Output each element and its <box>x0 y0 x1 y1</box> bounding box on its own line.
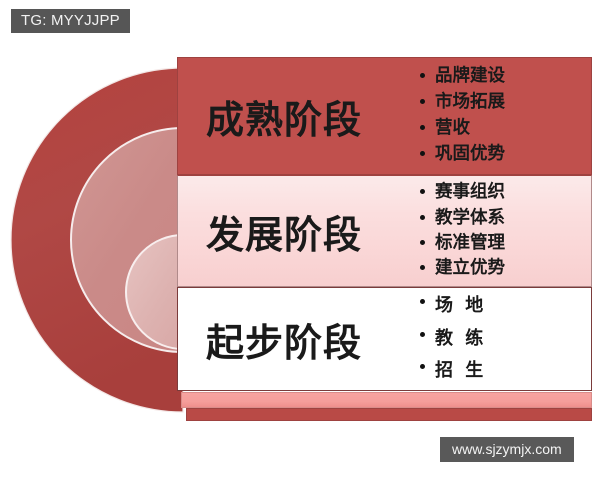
stage-title-mature: 成熟阶段 <box>206 89 418 144</box>
list-item: 建立优势 <box>418 256 505 281</box>
accent-strip-pink <box>181 392 592 408</box>
list-item: 标准管理 <box>418 231 505 256</box>
list-item: 品牌建设 <box>418 64 505 90</box>
watermark-overlay: www.sjzymjx.com <box>440 437 574 462</box>
list-item: 巩固优势 <box>418 142 505 168</box>
stage-items-startup: 场 地 教 练 招 生 <box>418 290 486 388</box>
stage-title-startup: 起步阶段 <box>206 312 418 367</box>
accent-strip-dark <box>186 408 592 421</box>
stage-title-development: 发展阶段 <box>206 204 418 259</box>
stage-band-mature[interactable]: 成熟阶段 品牌建设 市场拓展 营收 巩固优势 <box>177 57 592 175</box>
stage-items-development: 赛事组织 教学体系 标准管理 建立优势 <box>418 180 505 282</box>
list-item: 赛事组织 <box>418 180 505 205</box>
list-item: 教学体系 <box>418 206 505 231</box>
list-item: 招 生 <box>418 355 486 388</box>
tg-tag-overlay: TG: MYYJJPP <box>11 9 130 33</box>
list-item: 场 地 <box>418 290 486 323</box>
stage-band-startup[interactable]: 起步阶段 场 地 教 练 招 生 <box>177 287 592 391</box>
stage-items-mature: 品牌建设 市场拓展 营收 巩固优势 <box>418 64 505 168</box>
stage-band-development[interactable]: 发展阶段 赛事组织 教学体系 标准管理 建立优势 <box>177 175 592 287</box>
diagram-canvas: 成熟阶段 品牌建设 市场拓展 营收 巩固优势 发展阶段 赛事组织 教学体系 标准… <box>0 0 600 480</box>
list-item: 市场拓展 <box>418 90 505 116</box>
list-item: 教 练 <box>418 323 486 356</box>
list-item: 营收 <box>418 116 505 142</box>
